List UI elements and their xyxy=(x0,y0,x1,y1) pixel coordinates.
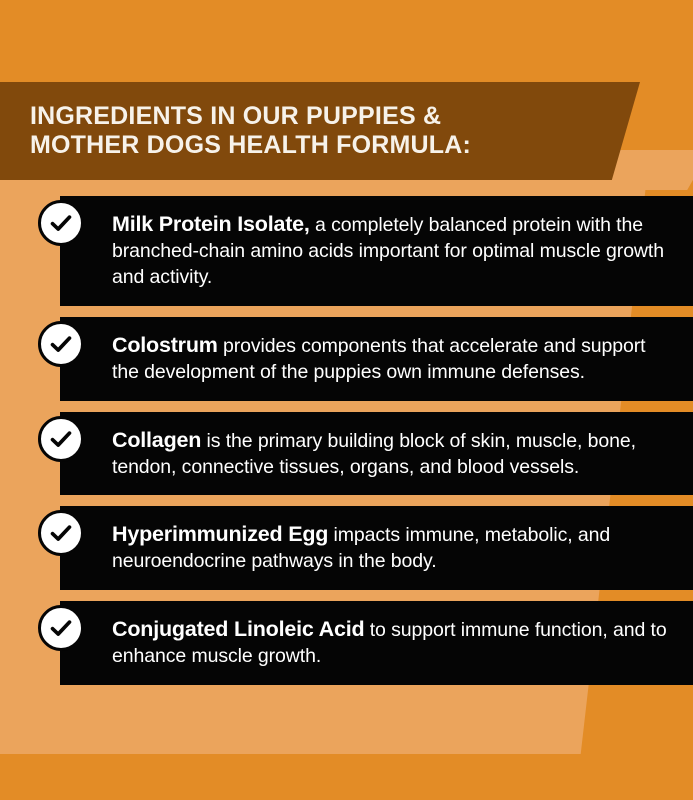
ingredient-text: Collagen is the primary building block o… xyxy=(112,426,675,481)
ingredient-panel: Collagen is the primary building block o… xyxy=(60,412,693,496)
check-icon xyxy=(38,605,84,651)
ingredient-panel: Conjugated Linoleic Acid to support immu… xyxy=(60,601,693,685)
ingredient-text: Conjugated Linoleic Acid to support immu… xyxy=(112,615,675,670)
list-item: Milk Protein Isolate, a completely balan… xyxy=(0,196,693,306)
ingredients-list: Milk Protein Isolate, a completely balan… xyxy=(0,196,693,696)
ingredient-text: Milk Protein Isolate, a completely balan… xyxy=(112,210,675,291)
ingredient-panel: Colostrum provides components that accel… xyxy=(60,317,693,401)
ingredient-term: Colostrum xyxy=(112,333,218,357)
ingredient-text: Hyperimmunized Egg impacts immune, metab… xyxy=(112,520,675,575)
check-icon xyxy=(38,200,84,246)
check-icon xyxy=(38,321,84,367)
ingredient-term: Collagen xyxy=(112,428,201,452)
ingredient-term: Conjugated Linoleic Acid xyxy=(112,617,364,641)
list-item: Hyperimmunized Egg impacts immune, metab… xyxy=(0,506,693,590)
list-item: Collagen is the primary building block o… xyxy=(0,412,693,496)
header-banner: INGREDIENTS IN OUR PUPPIES & MOTHER DOGS… xyxy=(0,82,640,180)
ingredient-term: Hyperimmunized Egg xyxy=(112,522,328,546)
ingredient-panel: Milk Protein Isolate, a completely balan… xyxy=(60,196,693,306)
ingredient-panel: Hyperimmunized Egg impacts immune, metab… xyxy=(60,506,693,590)
page-title: INGREDIENTS IN OUR PUPPIES & MOTHER DOGS… xyxy=(0,102,531,161)
list-item: Colostrum provides components that accel… xyxy=(0,317,693,401)
ingredients-poster: INGREDIENTS IN OUR PUPPIES & MOTHER DOGS… xyxy=(0,0,693,800)
check-icon xyxy=(38,416,84,462)
list-item: Conjugated Linoleic Acid to support immu… xyxy=(0,601,693,685)
ingredient-term: Milk Protein Isolate, xyxy=(112,212,310,236)
ingredient-text: Colostrum provides components that accel… xyxy=(112,331,675,386)
